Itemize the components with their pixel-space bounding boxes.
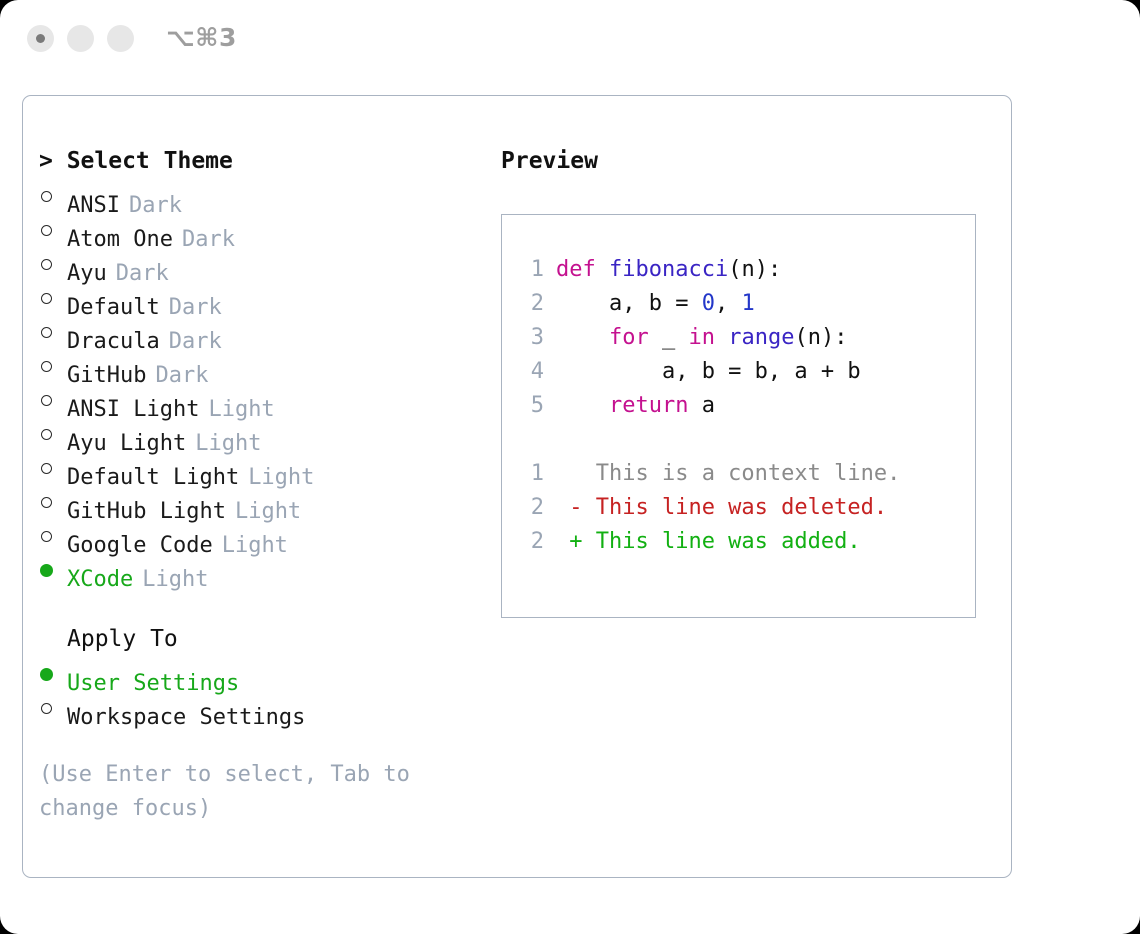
line-number: 4 — [516, 355, 544, 389]
apply-to-option-label: Workspace Settings — [67, 701, 305, 735]
theme-option-label: Default Light — [67, 461, 239, 495]
left-column: > Select Theme ANSIDarkAtom OneDarkAyuDa… — [39, 144, 479, 826]
right-column: Preview 1def fibonacci(n):2 a, b = 0, 13… — [501, 144, 981, 618]
app-window: ⌥⌘3 > Select Theme ANSIDarkAtom OneDarkA… — [0, 0, 1140, 934]
code-token-kw: return — [609, 393, 688, 418]
line-number: 1 — [516, 457, 544, 491]
theme-option-label: Google Code — [67, 529, 213, 563]
code-text: for _ in range(n): — [544, 321, 847, 355]
window-dot-indicator — [36, 34, 45, 43]
code-text: return a — [544, 389, 715, 423]
theme-option-tag: Dark — [160, 325, 222, 359]
theme-option-label: Atom One — [67, 223, 173, 257]
code-token-plain — [556, 325, 609, 350]
code-token-plain: a, b = — [556, 291, 702, 316]
code-token-plain: a, b = b, a + b — [556, 359, 861, 384]
line-number: 2 — [516, 287, 544, 321]
code-text: + This line was added. — [544, 525, 861, 559]
code-token-plain: _ — [649, 325, 689, 350]
apply-to-option-label: User Settings — [67, 667, 239, 701]
diff-line: 2 + This line was added. — [516, 525, 971, 559]
radio-unselected-icon — [39, 484, 67, 518]
theme-option-tag: Light — [133, 563, 208, 597]
radio-unselected-icon — [39, 690, 67, 724]
code-line: 3 for _ in range(n): — [516, 321, 971, 355]
code-token-ctx: This is a context line. — [556, 461, 900, 486]
code-text: - This line was deleted. — [544, 491, 887, 525]
theme-option-label: GitHub Light — [67, 495, 226, 529]
theme-option-tag: Dark — [107, 257, 169, 291]
window-dot-3[interactable] — [107, 25, 134, 52]
theme-option-label: Ayu — [67, 257, 107, 291]
apply-to-section: Apply To User SettingsWorkspace Settings — [39, 622, 479, 724]
theme-option-label: XCode — [67, 563, 133, 597]
code-token-plain: (n): — [728, 257, 781, 282]
code-text: This is a context line. — [544, 457, 900, 491]
theme-option-label: GitHub — [67, 359, 146, 393]
theme-option-label: Ayu Light — [67, 427, 186, 461]
theme-option-tag: Light — [199, 393, 274, 427]
theme-option-tag: Light — [213, 529, 288, 563]
theme-option-tag: Dark — [120, 189, 182, 223]
keyboard-hint-text: (Use Enter to select, Tab to change focu… — [39, 758, 439, 826]
line-number: 5 — [516, 389, 544, 423]
code-text: a, b = b, a + b — [544, 355, 861, 389]
code-token-plain: , — [715, 291, 742, 316]
code-text: def fibonacci(n): — [544, 253, 781, 287]
code-token-fn: fibonacci — [609, 257, 728, 282]
code-token-plain: a — [688, 393, 715, 418]
code-token-kw: def — [556, 257, 609, 282]
code-token-kw: in — [688, 325, 715, 350]
theme-option-tag: Light — [186, 427, 261, 461]
diff-line: 2 - This line was deleted. — [516, 491, 971, 525]
code-token-del: - This line was deleted. — [556, 495, 887, 520]
radio-unselected-icon — [39, 382, 67, 416]
theme-option-ansi[interactable]: ANSIDark — [39, 178, 479, 212]
radio-selected-icon — [39, 656, 67, 690]
radio-unselected-icon — [39, 314, 67, 348]
theme-list: ANSIDarkAtom OneDarkAyuDarkDefaultDarkDr… — [39, 178, 479, 586]
theme-option-tag: Dark — [173, 223, 235, 257]
radio-unselected-icon — [39, 450, 67, 484]
code-token-plain: (n): — [794, 325, 847, 350]
code-text: a, b = 0, 1 — [544, 287, 755, 321]
title-bar: ⌥⌘3 — [0, 0, 1140, 80]
radio-unselected-icon — [39, 416, 67, 450]
theme-option-tag: Light — [226, 495, 301, 529]
code-preview-area: 1def fibonacci(n):2 a, b = 0, 13 for _ i… — [516, 253, 971, 559]
line-number: 1 — [516, 253, 544, 287]
radio-unselected-icon — [39, 518, 67, 552]
window-dot-active[interactable] — [27, 25, 54, 52]
code-token-plain — [556, 393, 609, 418]
code-line: 4 a, b = b, a + b — [516, 355, 971, 389]
main-panel: > Select Theme ANSIDarkAtom OneDarkAyuDa… — [22, 95, 1012, 878]
apply-to-option-user-settings[interactable]: User Settings — [39, 656, 479, 690]
theme-option-label: ANSI — [67, 189, 120, 223]
code-spacer — [516, 423, 971, 457]
theme-option-tag: Dark — [146, 359, 208, 393]
code-token-add: + This line was added. — [556, 529, 861, 554]
apply-to-header: Apply To — [39, 622, 479, 656]
line-number: 2 — [516, 525, 544, 559]
window-controls — [27, 25, 134, 52]
diff-line: 1 This is a context line. — [516, 457, 971, 491]
code-line: 5 return a — [516, 389, 971, 423]
radio-selected-icon — [39, 552, 67, 586]
theme-option-label: Dracula — [67, 325, 160, 359]
code-line: 1def fibonacci(n): — [516, 253, 971, 287]
preview-box: 1def fibonacci(n):2 a, b = 0, 13 for _ i… — [501, 214, 976, 618]
preview-title: Preview — [501, 144, 981, 178]
radio-unselected-icon — [39, 348, 67, 382]
code-token-kw: for — [609, 325, 649, 350]
select-theme-header: > Select Theme — [39, 144, 479, 178]
code-line: 2 a, b = 0, 1 — [516, 287, 971, 321]
theme-option-label: ANSI Light — [67, 393, 199, 427]
code-token-num: 1 — [741, 291, 754, 316]
theme-option-tag: Light — [239, 461, 314, 495]
line-number: 3 — [516, 321, 544, 355]
keyboard-shortcut-label: ⌥⌘3 — [166, 23, 237, 52]
radio-unselected-icon — [39, 246, 67, 280]
radio-unselected-icon — [39, 178, 67, 212]
apply-to-list: User SettingsWorkspace Settings — [39, 656, 479, 724]
code-token-num: 0 — [702, 291, 715, 316]
radio-unselected-icon — [39, 212, 67, 246]
radio-unselected-icon — [39, 280, 67, 314]
theme-option-label: Default — [67, 291, 160, 325]
code-token-fn: range — [728, 325, 794, 350]
window-dot-2[interactable] — [67, 25, 94, 52]
line-number: 2 — [516, 491, 544, 525]
theme-option-tag: Dark — [160, 291, 222, 325]
code-token-plain — [715, 325, 728, 350]
